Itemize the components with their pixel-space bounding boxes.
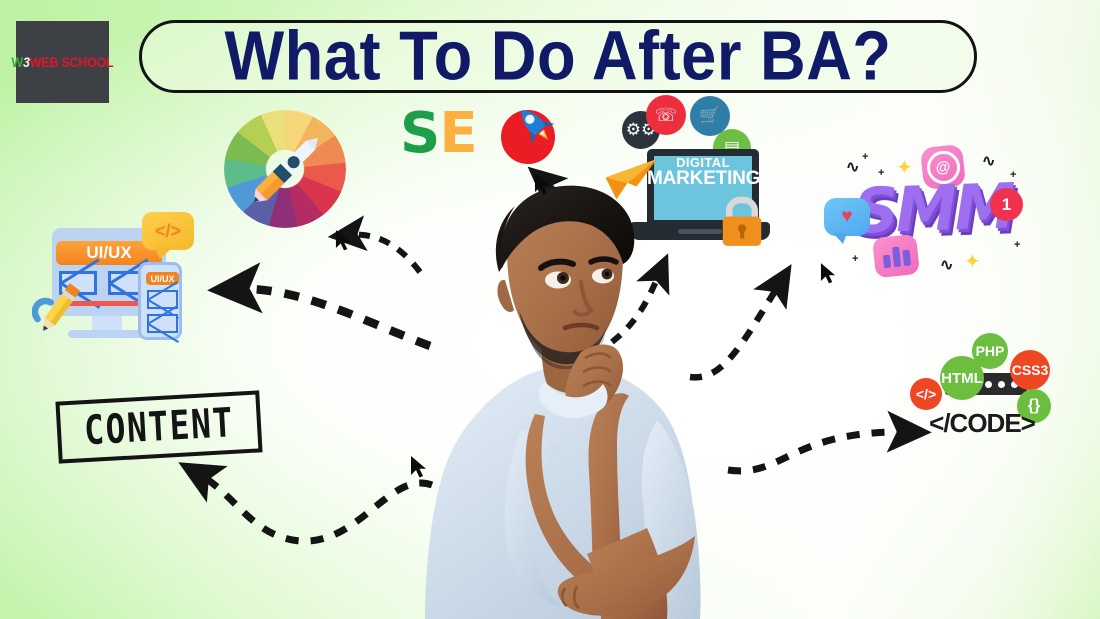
- seo-letter-e: E: [439, 101, 476, 166]
- code-label: </CODE>: [922, 408, 1042, 439]
- mouse-cursor-icon: [534, 172, 552, 196]
- poster-canvas: W3WEB SCHOOL What To Do After BA?: [0, 0, 1100, 619]
- smm-illustration[interactable]: ∿ ∿ ∿ + + + + + ✦ ✦ @ SMM ♥ 1: [822, 140, 1034, 292]
- notification-badge: 1: [990, 188, 1023, 221]
- thinking-man-photo: [395, 176, 735, 619]
- html-pill: HTML: [940, 356, 984, 400]
- code-illustration[interactable]: PHP HTML CSS3 {} </> </CODE>: [905, 333, 1055, 453]
- tag-pill: </>: [910, 378, 942, 410]
- css3-pill: CSS3: [1010, 350, 1050, 390]
- code-bubble-icon: </>: [142, 212, 194, 250]
- pen-and-pencil-icon: [240, 128, 326, 214]
- seo-illustration[interactable]: SE: [400, 104, 560, 168]
- plus-decoration: +: [852, 254, 858, 265]
- phone-wireframe-block: [147, 314, 178, 333]
- phone-mockup: UI/UX: [138, 262, 182, 340]
- rocket-icon: [512, 102, 558, 148]
- pencil-icon: [32, 278, 88, 336]
- plus-decoration: +: [862, 152, 868, 163]
- bar-chart-tile-icon: [872, 234, 920, 278]
- seo-letter-s: S: [400, 101, 439, 166]
- mouse-cursor-icon: [820, 262, 837, 285]
- squiggle-decoration: ∿: [982, 154, 995, 170]
- heart-chat-bubble-icon: ♥: [824, 198, 870, 236]
- graphic-design-illustration[interactable]: [216, 104, 354, 234]
- plus-decoration: +: [1014, 240, 1020, 251]
- squiggle-decoration: ∿: [940, 258, 953, 274]
- uiux-illustration[interactable]: UI/UX </> UI/UX: [32, 212, 212, 340]
- sparkle-icon: ✦: [964, 252, 981, 272]
- mouse-cursor-icon: [410, 455, 428, 479]
- squiggle-decoration: ∿: [846, 160, 859, 176]
- content-stamp[interactable]: CONTENT: [55, 390, 262, 463]
- mouse-cursor-icon: [335, 229, 352, 252]
- phone-icon: ☏: [646, 95, 686, 135]
- heart-icon: ♥: [841, 206, 852, 228]
- arrow-to-code: [728, 432, 908, 471]
